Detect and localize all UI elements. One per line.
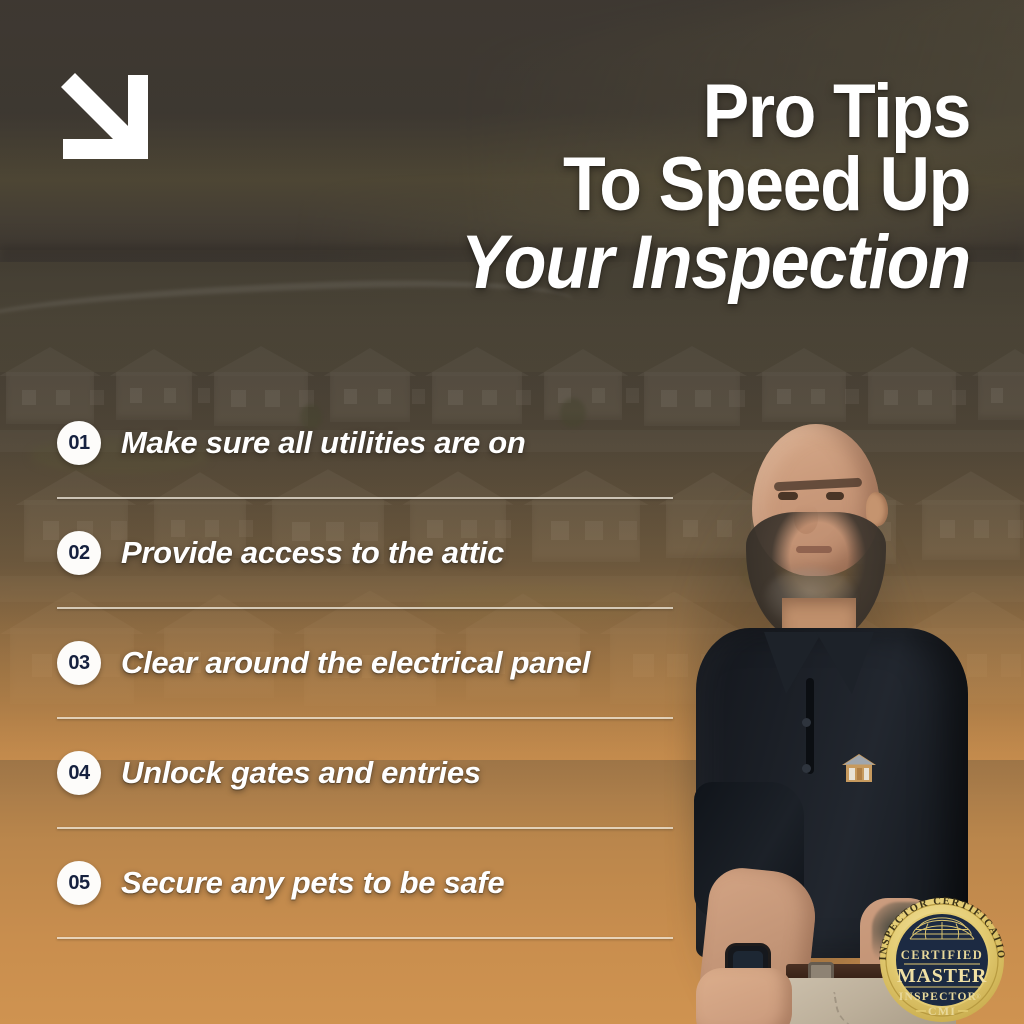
- page-title: Pro Tips To Speed Up Your Inspection: [270, 76, 970, 301]
- list-item: 02 Provide access to the attic: [57, 522, 673, 584]
- tips-list: 01 Make sure all utilities are on 02 Pro…: [57, 412, 673, 962]
- title-line-2: To Speed Up: [326, 149, 970, 222]
- tip-text: Provide access to the attic: [121, 535, 504, 571]
- tip-number-badge: 05: [57, 861, 101, 905]
- seal-line-inspector: INSPECTOR: [899, 991, 978, 1003]
- seal-registered-mark: ®: [975, 993, 981, 1001]
- tip-number-badge: 03: [57, 641, 101, 685]
- tip-number-badge: 01: [57, 421, 101, 465]
- tip-number-badge: 04: [57, 751, 101, 795]
- tip-divider: [57, 827, 673, 829]
- tip-number-badge: 02: [57, 531, 101, 575]
- certified-master-inspector-seal: MASTER INSPECTOR CERTIFICATION BOARD CER…: [866, 886, 1018, 1024]
- title-line-3: Your Inspection: [326, 224, 970, 302]
- poster-canvas: Pro Tips To Speed Up Your Inspection 01 …: [0, 0, 1024, 1024]
- tip-text: Secure any pets to be safe: [121, 865, 504, 901]
- shirt-button: [802, 718, 811, 727]
- eye-left: [778, 492, 798, 500]
- clasped-hands: [696, 968, 792, 1024]
- title-line-1: Pro Tips: [326, 76, 970, 149]
- eye-right: [826, 492, 844, 500]
- tip-divider: [57, 607, 673, 609]
- tip-text: Clear around the electrical panel: [121, 645, 590, 681]
- mouth: [796, 546, 832, 553]
- seal-line-certified: CERTIFIED: [901, 948, 984, 962]
- list-item: 05 Secure any pets to be safe: [57, 852, 673, 914]
- seal-line-master: MASTER: [897, 965, 987, 987]
- tip-text: Unlock gates and entries: [121, 755, 481, 791]
- house-logo-icon: [840, 752, 878, 784]
- list-item: 04 Unlock gates and entries: [57, 742, 673, 804]
- tip-divider: [57, 717, 673, 719]
- tip-divider: [57, 497, 673, 499]
- tip-text: Make sure all utilities are on: [121, 425, 526, 461]
- arrow-down-right-icon: [57, 71, 155, 163]
- list-item: 03 Clear around the electrical panel: [57, 632, 673, 694]
- list-item: 01 Make sure all utilities are on: [57, 412, 673, 474]
- seal-line-cmi: CMI: [928, 1004, 956, 1018]
- tip-divider: [57, 937, 673, 939]
